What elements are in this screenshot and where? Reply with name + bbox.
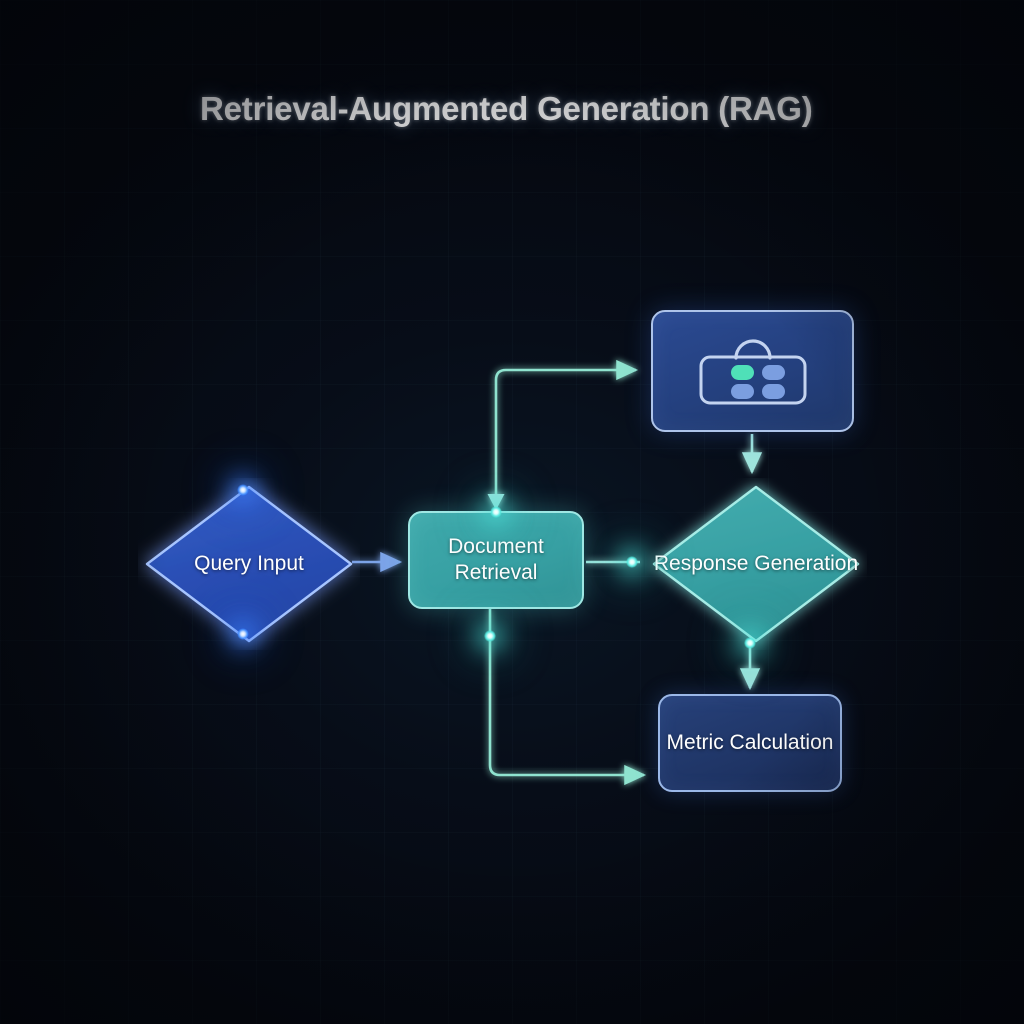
glow-node-retrieval-bottom (484, 630, 496, 642)
metric-calculation-label: Metric Calculation (667, 730, 834, 756)
toolbox-icon (692, 332, 814, 410)
edge-retrieval-inlet-arrow (488, 494, 505, 510)
document-retrieval-label: Document Retrieval (410, 534, 582, 587)
toolbox-dot-3 (731, 384, 754, 399)
edge-retrieval-to-metric (490, 609, 644, 775)
diagram-canvas: Retrieval-Augmented Generation (RAG) (0, 0, 1024, 1024)
edge-retrieval-to-knowledge (496, 370, 636, 512)
node-query-input[interactable]: Query Input (138, 478, 360, 650)
glow-node-response-left (626, 556, 638, 568)
node-response-generation[interactable]: Response Generation (645, 478, 867, 650)
query-input-diamond-shape (138, 478, 360, 650)
toolbox-dot-4 (762, 384, 785, 399)
node-knowledge-base[interactable] (651, 310, 854, 432)
node-document-retrieval[interactable]: Document Retrieval (408, 511, 584, 609)
node-metric-calculation[interactable]: Metric Calculation (658, 694, 842, 792)
toolbox-dot-2 (762, 365, 785, 380)
response-generation-diamond-shape (645, 478, 867, 650)
toolbox-dot-1 (731, 365, 754, 380)
page-title: Retrieval-Augmented Generation (RAG) (200, 90, 813, 128)
